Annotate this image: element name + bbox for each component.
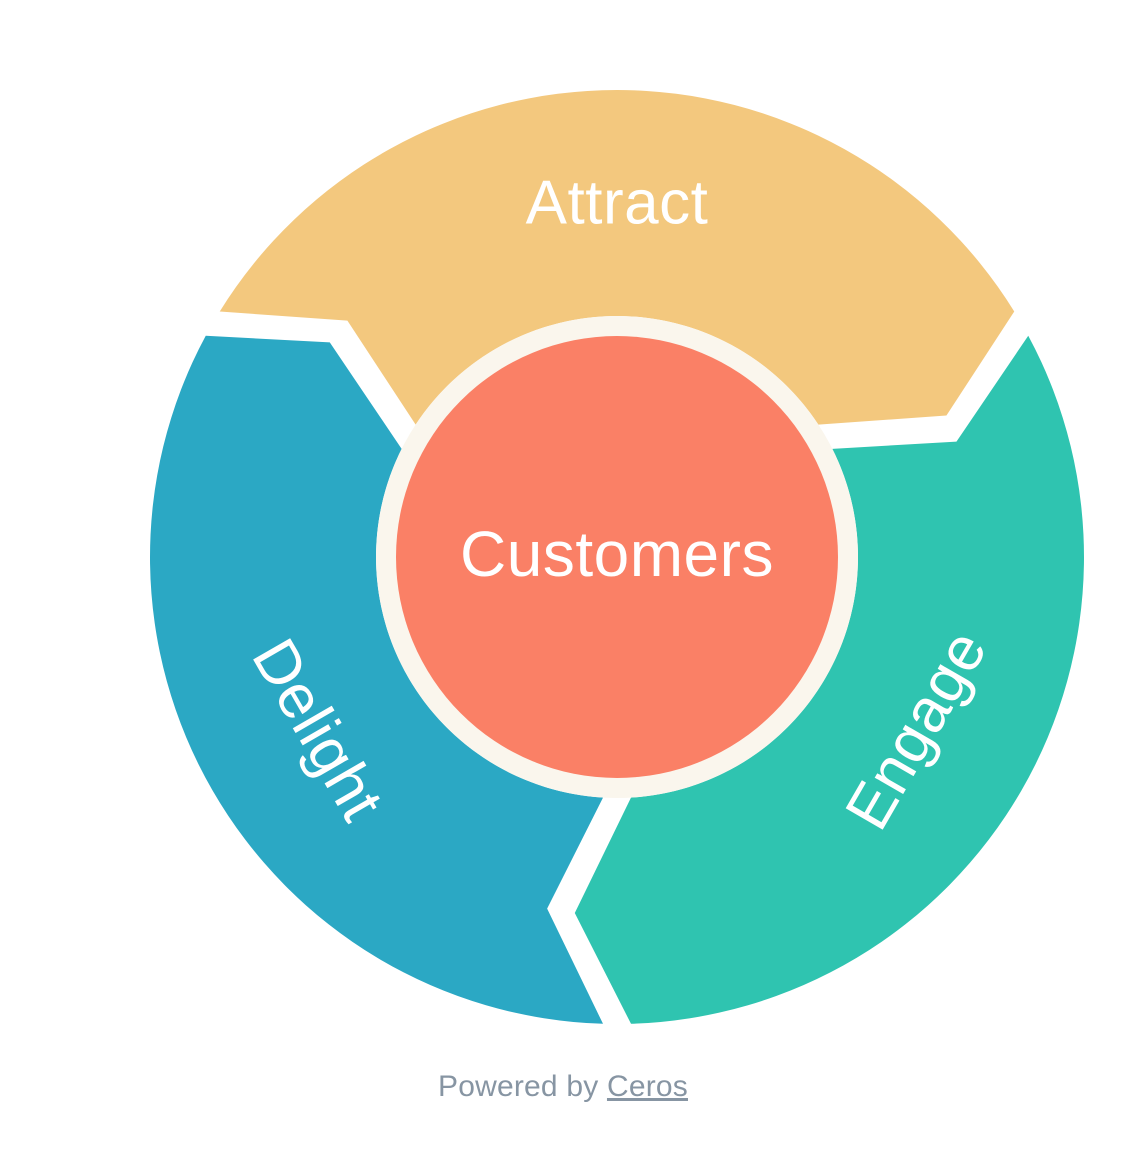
segment-label-attract: Attract <box>526 168 709 237</box>
footer-credit: Powered by Ceros <box>0 1070 1126 1104</box>
hub-label: Customers <box>460 518 774 590</box>
flywheel-canvas: Customers AttractEngageDelight <box>0 0 1126 1156</box>
flywheel-diagram: Customers AttractEngageDelight Powered b… <box>0 0 1126 1156</box>
footer-prefix: Powered by <box>438 1070 607 1103</box>
ceros-link[interactable]: Ceros <box>607 1070 688 1103</box>
